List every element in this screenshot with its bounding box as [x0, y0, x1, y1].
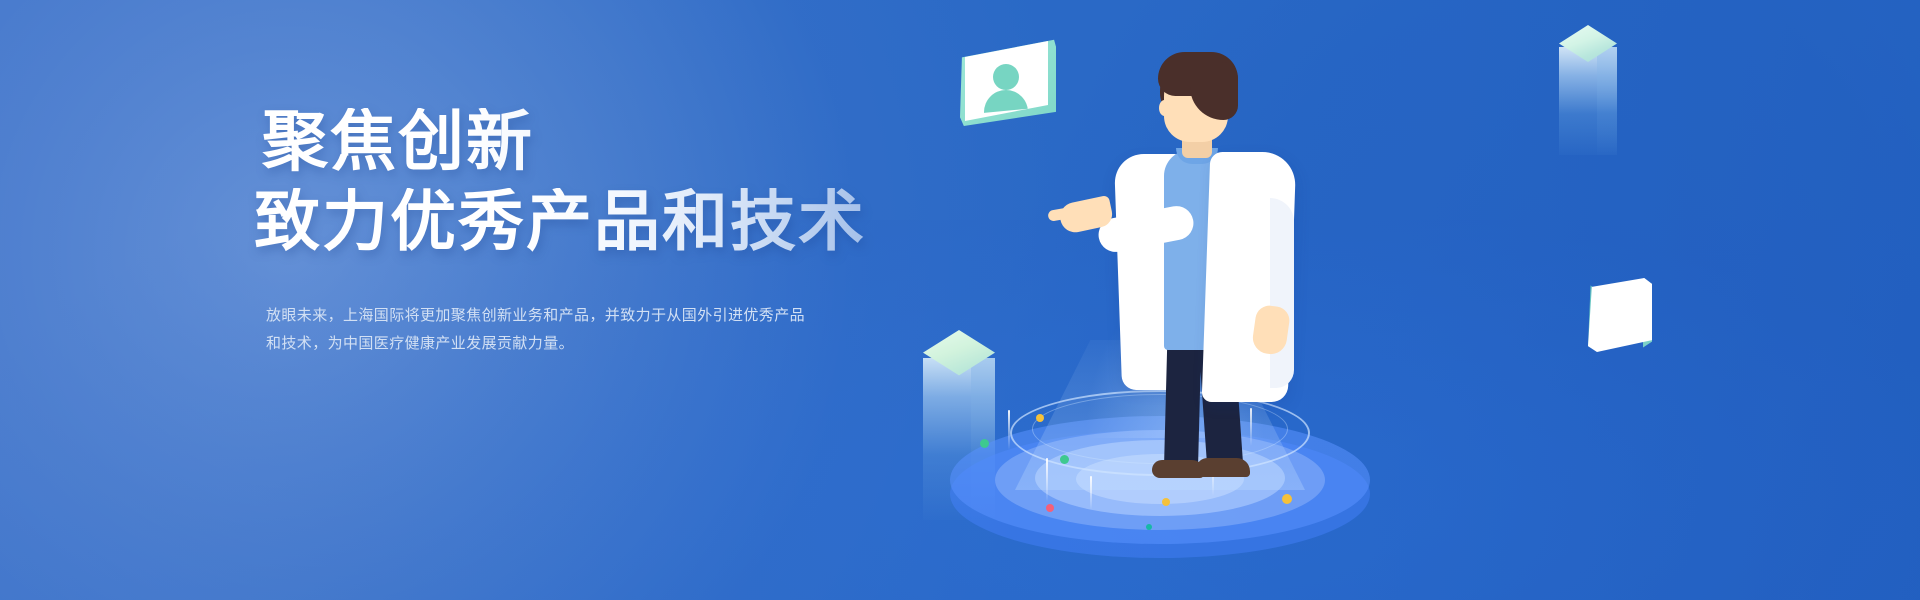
particle-dot — [980, 439, 989, 448]
ear — [1159, 100, 1170, 116]
paragraph-line-2: 和技术，为中国医疗健康产业发展贡献力量。 — [266, 330, 866, 358]
paragraph-line-1: 放眼未来，上海国际将更加聚焦创新业务和产品，并致力于从国外引进优秀产品 — [266, 302, 866, 330]
particle-dot — [1282, 494, 1292, 504]
particle-dot — [1146, 524, 1152, 530]
headline-line-2: 致力优秀产品和技术 — [254, 188, 882, 254]
particle-dot — [1162, 498, 1170, 506]
shoe-right — [1196, 458, 1250, 477]
particle-dot — [1046, 504, 1054, 512]
isometric-bar-tall-icon — [1553, 25, 1625, 155]
light-streak — [1090, 476, 1092, 510]
hero-banner: 聚焦创新 致力优秀产品和技术 放眼未来，上海国际将更加聚焦创新业务和产品，并致力… — [0, 0, 1920, 600]
banner-copy: 聚焦创新 致力优秀产品和技术 放眼未来，上海国际将更加聚焦创新业务和产品，并致力… — [262, 108, 882, 358]
doctor-figure — [1040, 48, 1340, 468]
lab-coat-shadow — [1270, 198, 1294, 388]
headline-line-1: 聚焦创新 — [262, 108, 882, 174]
bar-tall-cap — [1559, 25, 1617, 69]
user-avatar-head-icon — [993, 64, 1019, 90]
illustration-stage — [940, 0, 1920, 600]
bar-short-cap — [923, 330, 995, 384]
banner-paragraph: 放眼未来，上海国际将更加聚焦创新业务和产品，并致力于从国外引进优秀产品 和技术，… — [266, 302, 866, 358]
light-streak — [1008, 410, 1010, 450]
white-card-icon — [1588, 278, 1652, 352]
